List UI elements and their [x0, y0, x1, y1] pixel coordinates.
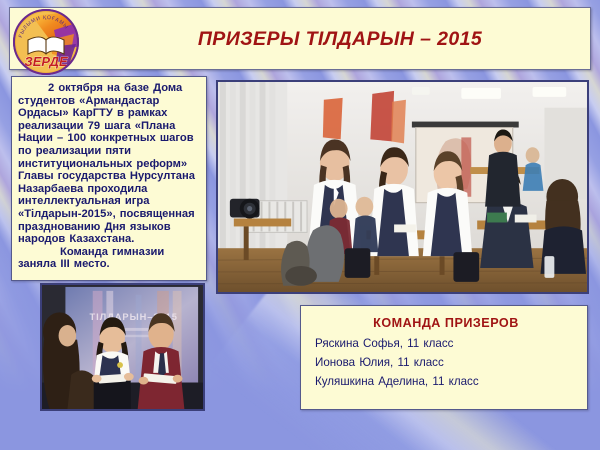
intro-text-box: 2 октября на базе Дома студентов «Арманд…	[11, 76, 207, 281]
intro-result-text: Команда гимназии заняла III место.	[18, 246, 201, 271]
team-member-3: Куляшкина Аделина, 11 класс	[315, 375, 577, 388]
header-banner: ПРИЗЕРЫ ТІЛДАРЫН – 2015	[9, 7, 591, 70]
team-winners-box: КОМАНДА ПРИЗЕРОВ Ряскина Софья, 11 класс…	[300, 305, 588, 410]
photo-presenters-stage: ТІЛДАРЫН–2015	[40, 283, 205, 411]
team-box-title: КОМАНДА ПРИЗЕРОВ	[315, 316, 577, 330]
team-member-2: Ионова Юлия, 11 класс	[315, 356, 577, 369]
presentation-slide: ПРИЗЕРЫ ТІЛДАРЫН – 2015	[0, 0, 600, 450]
page-title: ПРИЗЕРЫ ТІЛДАРЫН – 2015	[110, 28, 570, 51]
zerde-emblem-logo: ЗЕРДЕ ҒЫЛЫМИ ҚОҒАМЫ	[10, 6, 82, 78]
svg-text:ЗЕРДЕ: ЗЕРДЕ	[24, 54, 68, 69]
intro-body-text: 2 октября на базе Дома студентов «Арманд…	[18, 82, 201, 246]
team-member-1: Ряскина Софья, 11 класс	[315, 337, 577, 350]
photo-classroom-participants	[216, 80, 589, 294]
